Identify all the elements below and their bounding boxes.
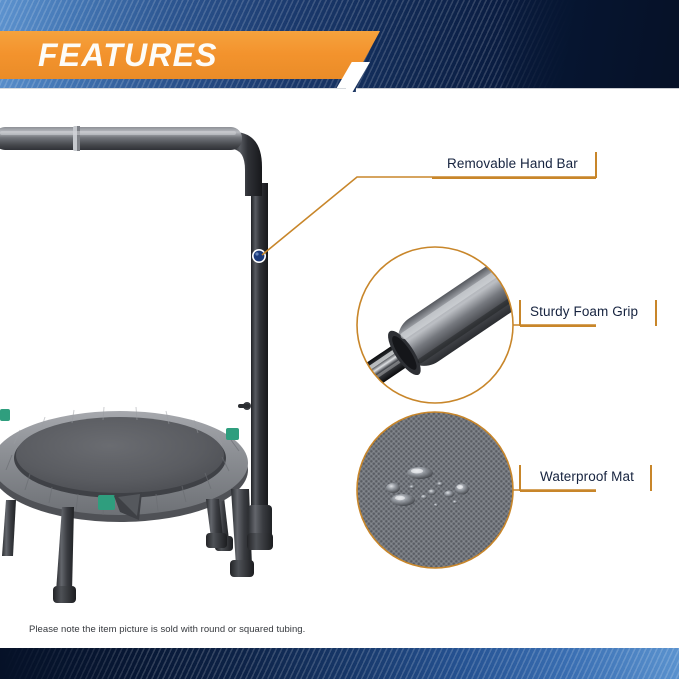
- handbar-illustration: [0, 126, 273, 550]
- footnote-text: Please note the item picture is sold wit…: [29, 624, 305, 635]
- callout-rule-waterproof-mat: [520, 490, 596, 492]
- footer-stripe-pattern: [0, 648, 679, 679]
- callout-rule-sturdy-foam-grip: [520, 325, 596, 327]
- leader-line-hand-bar: [262, 177, 596, 255]
- callout-circle-waterproof-mat: [357, 412, 513, 568]
- product-illustration: [0, 0, 679, 679]
- page-title: FEATURES: [38, 34, 218, 76]
- header-dark-right: [502, 0, 679, 92]
- feature-infographic-page: FEATURES: [0, 0, 679, 679]
- handbar-marker-dot: [252, 249, 266, 263]
- callout-label-sturdy-foam-grip: Sturdy Foam Grip: [530, 304, 638, 319]
- callout-label-waterproof-mat: Waterproof Mat: [540, 469, 634, 484]
- trampoline-illustration: [0, 407, 254, 603]
- header-rule-right: [356, 88, 679, 93]
- callout-tick-removable-hand-bar: [595, 152, 597, 178]
- callout-rule-removable-hand-bar: [432, 177, 596, 179]
- callout-tick-left-waterproof-mat: [519, 465, 521, 491]
- callout-tick-left-sturdy-foam-grip: [519, 300, 521, 326]
- header-rule-left: [0, 88, 346, 93]
- footer-band: [0, 648, 679, 679]
- callout-label-removable-hand-bar: Removable Hand Bar: [447, 156, 578, 171]
- callout-tick-right-waterproof-mat: [650, 465, 652, 491]
- callout-tick-right-sturdy-foam-grip: [655, 300, 657, 326]
